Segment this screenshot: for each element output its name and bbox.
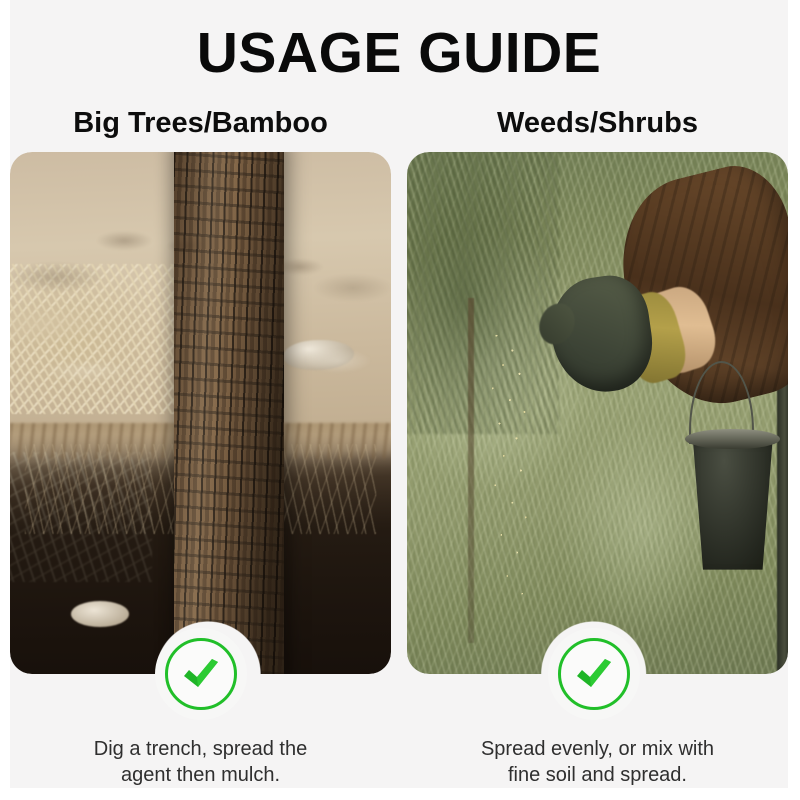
rock-icon bbox=[284, 340, 354, 370]
panel-heading-weeds-shrubs: Weeds/Shrubs bbox=[497, 108, 698, 140]
tree-trunk bbox=[174, 152, 284, 674]
green-check-icon bbox=[181, 657, 221, 691]
badge-check-right bbox=[548, 628, 640, 720]
panel-weeds-shrubs: Weeds/Shrubs bbox=[407, 108, 788, 788]
trunk-highlight bbox=[174, 152, 284, 674]
granule-stream bbox=[483, 324, 544, 616]
trench-lip bbox=[10, 423, 391, 459]
caption-line-2: agent then mulch. bbox=[121, 764, 280, 786]
scene-weeds-spreading bbox=[407, 152, 788, 674]
photo-wrap-left bbox=[10, 152, 391, 674]
badge-check-left bbox=[155, 628, 247, 720]
rock-secondary-icon bbox=[71, 601, 129, 627]
caption-line-2: fine soil and spread. bbox=[508, 764, 687, 786]
caption-line-1: Spread evenly, or mix with bbox=[481, 738, 714, 760]
caption-big-trees-bamboo: Dig a trench, spread the agent then mulc… bbox=[94, 736, 307, 788]
check-ring-right bbox=[558, 638, 630, 710]
shrub-stem bbox=[468, 298, 474, 643]
scene-tree-trench bbox=[10, 152, 391, 674]
panel-grid: Big Trees/Bamboo bbox=[10, 108, 788, 788]
green-check-icon bbox=[574, 657, 614, 691]
photo-weeds-shrubs bbox=[407, 152, 788, 674]
straw-clump-icon bbox=[10, 264, 174, 414]
panel-heading-big-trees-bamboo: Big Trees/Bamboo bbox=[73, 108, 328, 140]
check-ring-left bbox=[165, 638, 237, 710]
page-title: USAGE GUIDE bbox=[10, 24, 788, 84]
photo-big-trees-bamboo bbox=[10, 152, 391, 674]
straw-clump-lower-icon bbox=[10, 452, 152, 582]
photo-wrap-right bbox=[407, 152, 788, 674]
caption-line-1: Dig a trench, spread the bbox=[94, 738, 307, 760]
caption-weeds-shrubs: Spread evenly, or mix with fine soil and… bbox=[481, 736, 714, 788]
exposed-roots bbox=[25, 444, 376, 534]
usage-guide-page: USAGE GUIDE Big Trees/Bamboo bbox=[0, 0, 800, 800]
bucket bbox=[689, 434, 777, 570]
panel-big-trees-bamboo: Big Trees/Bamboo bbox=[10, 108, 391, 788]
